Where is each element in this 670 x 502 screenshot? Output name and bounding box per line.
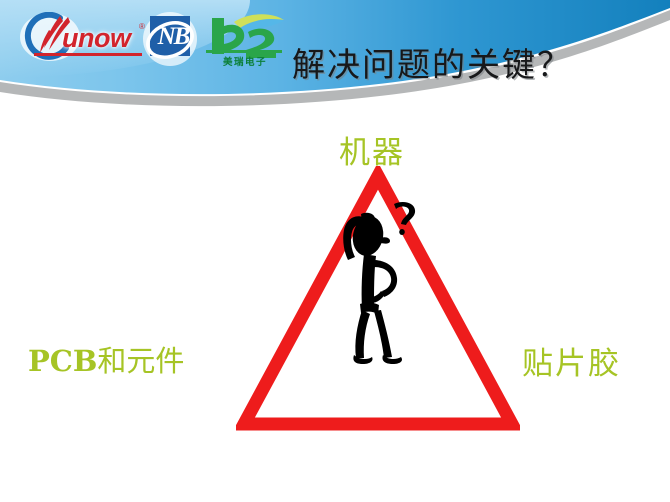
label-machine: 机器 — [339, 127, 405, 172]
meirui-wordmark: 美瑞电子 — [204, 54, 286, 68]
label-pcb-bold: PCB — [28, 344, 97, 378]
sunow-logo: unow ® — [16, 12, 144, 66]
confused-stick-figure-icon — [330, 198, 450, 378]
header-banner: unow ® NB — [0, 0, 670, 110]
slide-canvas: unow ® NB — [0, 0, 670, 502]
label-pcb-rest: 和元件 — [97, 344, 184, 378]
nb-wordmark: NB — [153, 23, 193, 51]
meirui-logo: 美瑞电子 — [200, 10, 288, 72]
page-title: 解决问题的关键？ — [292, 38, 572, 86]
sunow-wordmark: unow — [62, 23, 130, 54]
nb-logo: NB — [142, 10, 198, 68]
label-smt-adhesive: 贴片胶 — [522, 338, 621, 383]
logo-row: unow ® NB — [0, 0, 300, 80]
diagram-area: 机器 PCB和元件 贴片胶 — [0, 110, 670, 502]
label-pcb-and-components: PCB和元件 — [28, 338, 184, 380]
